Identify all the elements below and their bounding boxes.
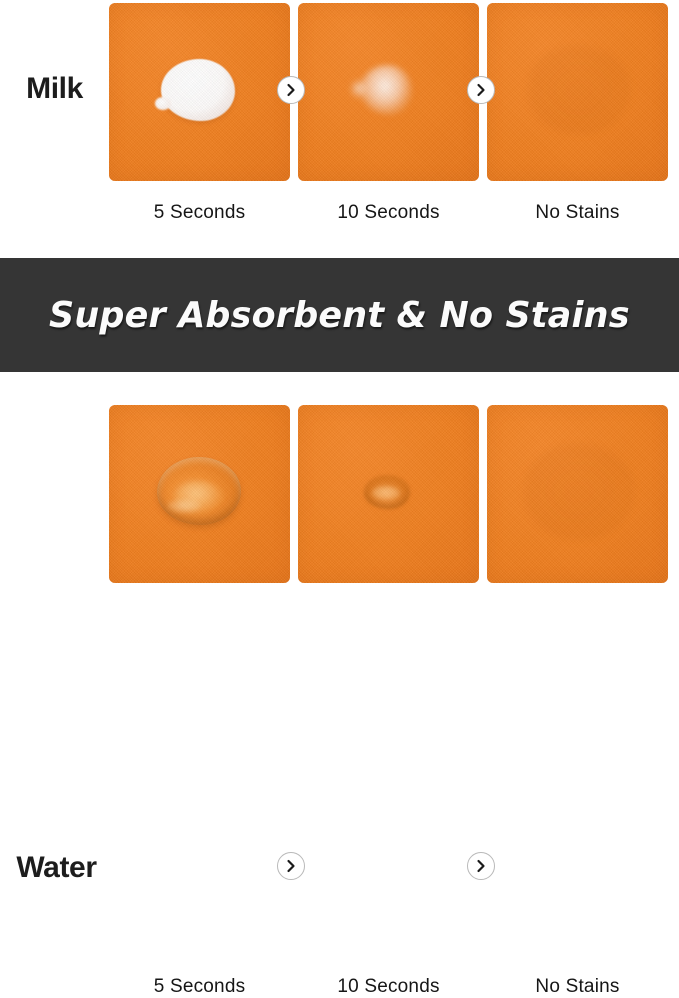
- orange-fabric-swatch: [487, 405, 668, 583]
- milk-demo-row: Milk 5 Seconds 10 Seconds No Stains: [0, 0, 679, 255]
- panel-caption: No Stains: [487, 202, 668, 224]
- chevron-right-icon: [467, 76, 495, 104]
- orange-fabric-swatch: [109, 405, 290, 583]
- orange-fabric-swatch: [298, 405, 479, 583]
- orange-fabric-swatch: [298, 3, 479, 181]
- residual-stain-ghost: [523, 443, 635, 541]
- water-panel-10-seconds: 10 Seconds: [298, 405, 479, 583]
- row-label-milk: Milk: [0, 72, 109, 106]
- chevron-right-icon: [277, 852, 305, 880]
- water-demo-row: Water 5 Seconds 10 Seconds No Stains: [0, 375, 679, 627]
- water-panel-5-seconds: 5 Seconds: [109, 405, 290, 583]
- water-droplet-absorbing: [364, 475, 410, 509]
- banner-headline: Super Absorbent & No Stains: [49, 295, 630, 336]
- panel-caption: 5 Seconds: [109, 976, 290, 998]
- milk-droplet-large: [161, 59, 235, 121]
- panel-caption: No Stains: [487, 976, 668, 998]
- chevron-right-icon: [467, 852, 495, 880]
- panel-caption: 5 Seconds: [109, 202, 290, 224]
- milk-panel-no-stains: No Stains: [487, 3, 668, 181]
- panel-caption: 10 Seconds: [298, 202, 479, 224]
- milk-panel-5-seconds: 5 Seconds: [109, 3, 290, 181]
- milk-panel-10-seconds: 10 Seconds: [298, 3, 479, 181]
- orange-fabric-swatch: [109, 3, 290, 181]
- water-droplet-large: [157, 457, 241, 525]
- water-panel-no-stains: No Stains: [487, 405, 668, 583]
- row-label-water: Water: [2, 851, 111, 885]
- panel-caption: 10 Seconds: [298, 976, 479, 998]
- milk-droplet-absorbing: [360, 65, 412, 115]
- water-panel-strip: 5 Seconds 10 Seconds No Stains: [109, 405, 668, 583]
- milk-panel-strip: 5 Seconds 10 Seconds No Stains: [109, 3, 668, 181]
- orange-fabric-swatch: [487, 3, 668, 181]
- headline-banner: Super Absorbent & No Stains: [0, 258, 679, 372]
- residual-stain-ghost: [527, 45, 631, 135]
- chevron-right-icon: [277, 76, 305, 104]
